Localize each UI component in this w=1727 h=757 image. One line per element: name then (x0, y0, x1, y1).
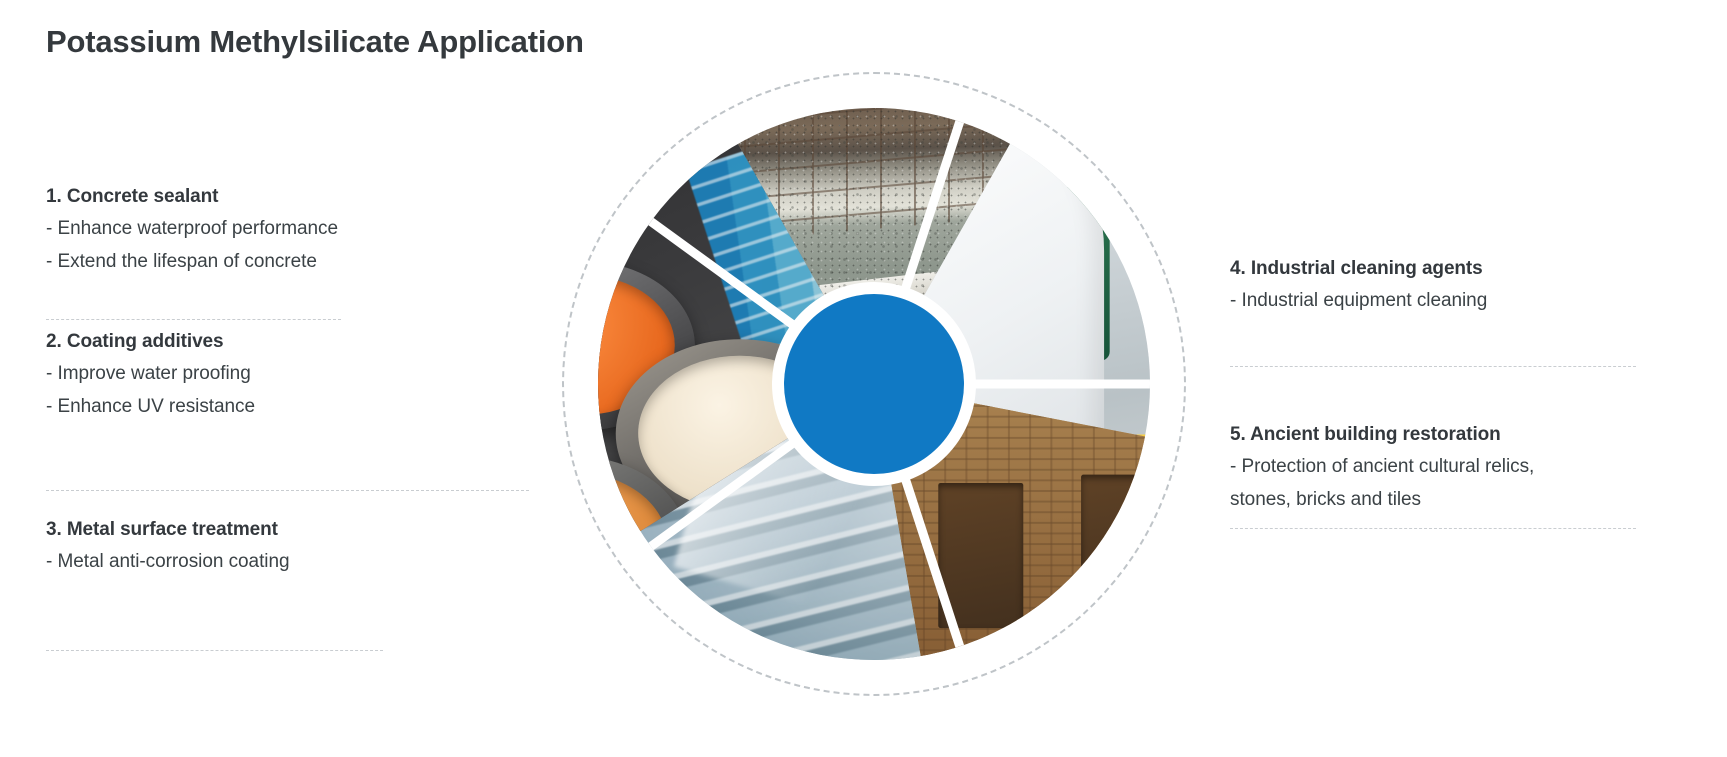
application-item-4-line-1: - Industrial equipment cleaning (1230, 287, 1487, 316)
center-hub-circle[interactable] (784, 294, 964, 474)
application-item-1-title: 1. Concrete sealant (46, 186, 338, 208)
application-item-5: 5. Ancient building restoration - Protec… (1230, 424, 1534, 519)
application-item-5-line-2: stones, bricks and tiles (1230, 486, 1534, 515)
divider-after-item-3 (46, 650, 383, 651)
divider-after-item-4 (1230, 366, 1636, 367)
application-item-1-line-2: - Extend the lifespan of concrete (46, 248, 338, 277)
application-item-3-title: 3. Metal surface treatment (46, 519, 290, 541)
application-item-4: 4. Industrial cleaning agents - Industri… (1230, 258, 1487, 320)
application-item-2-line-1: - Improve water proofing (46, 360, 255, 389)
divider-after-item-5 (1230, 528, 1636, 529)
application-item-3-line-1: - Metal anti-corrosion coating (46, 548, 290, 577)
application-donut-graphic (562, 72, 1186, 696)
application-item-1-line-1: - Enhance waterproof performance (46, 215, 338, 244)
application-item-2: 2. Coating additives - Improve water pro… (46, 331, 255, 426)
application-item-2-title: 2. Coating additives (46, 331, 255, 353)
divider-after-item-2 (46, 490, 529, 491)
application-item-2-line-2: - Enhance UV resistance (46, 393, 255, 422)
application-item-5-title: 5. Ancient building restoration (1230, 424, 1534, 446)
application-item-3: 3. Metal surface treatment - Metal anti-… (46, 519, 290, 581)
divider-after-item-1 (46, 319, 341, 320)
page-title: Potassium Methylsilicate Application (46, 24, 584, 60)
application-item-1: 1. Concrete sealant - Enhance waterproof… (46, 186, 338, 281)
application-item-5-line-1: - Protection of ancient cultural relics, (1230, 453, 1534, 482)
application-item-4-title: 4. Industrial cleaning agents (1230, 258, 1487, 280)
wall-niche-detail (1082, 475, 1150, 612)
